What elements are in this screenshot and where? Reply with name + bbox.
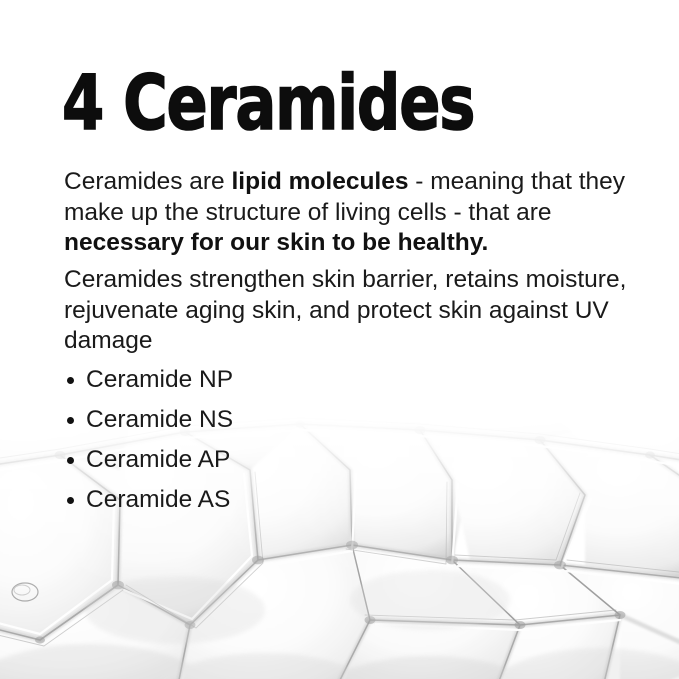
content-area: 4 Ceramides Ceramides are lipid molecule… — [0, 0, 679, 679]
list-item-label: Ceramide AP — [86, 446, 230, 473]
paragraph-run: Ceramides are — [64, 168, 231, 195]
paragraph-run: Ceramides strengthen skin barrier, retai… — [64, 266, 626, 354]
paragraph-definition: Ceramides are lipid molecules - meaning … — [64, 167, 644, 259]
paragraph-run-bold: lipid molecules — [231, 168, 408, 195]
infographic-page: 4 Ceramides Ceramides are lipid molecule… — [0, 0, 679, 679]
bullet-dot-icon — [67, 417, 74, 424]
list-item-label: Ceramide AS — [86, 486, 230, 513]
page-title: 4 Ceramides — [62, 60, 474, 146]
list-item: Ceramide NP — [64, 360, 464, 400]
list-item-label: Ceramide NP — [86, 366, 233, 393]
bullet-dot-icon — [67, 497, 74, 504]
ceramide-list: Ceramide NP Ceramide NS Ceramide AP Cera… — [64, 360, 464, 520]
list-item: Ceramide AP — [64, 440, 464, 480]
list-item-label: Ceramide NS — [86, 406, 233, 433]
list-item: Ceramide NS — [64, 400, 464, 440]
paragraph-benefits: Ceramides strengthen skin barrier, retai… — [64, 265, 644, 357]
bullet-dot-icon — [67, 457, 74, 464]
paragraph-run-bold: necessary for our skin to be healthy. — [64, 229, 488, 256]
bullet-dot-icon — [67, 377, 74, 384]
list-item: Ceramide AS — [64, 480, 464, 520]
